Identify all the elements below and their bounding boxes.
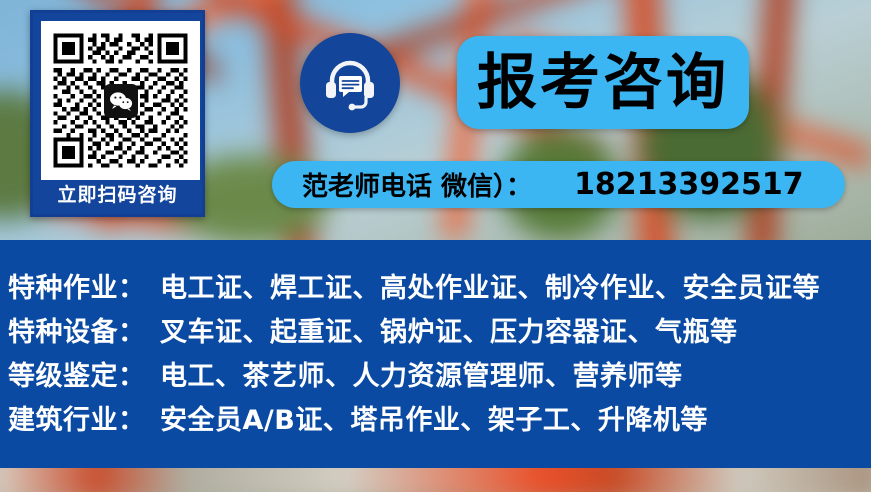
bottom-photo-blur	[0, 468, 871, 492]
category-value: 叉车证、起重证、锅炉证、压力容器证、气瓶等	[160, 310, 738, 349]
contact-phone-pill[interactable]: 范老师电话 微信）： 18213392517	[272, 161, 845, 208]
headset-support-icon	[300, 33, 400, 133]
promo-poster: 立即扫码咨询 报考咨询 范老师电话 微信）： 18213392517 特	[0, 0, 871, 492]
contact-label: 范老师电话 微信）：	[302, 166, 532, 203]
contact-phone-number[interactable]: 18213392517	[574, 167, 804, 202]
bottom-photo-strip	[0, 468, 871, 492]
category-label: 特种设备：	[8, 310, 160, 349]
consultation-title-pill: 报考咨询	[457, 36, 749, 129]
wechat-logo-icon	[104, 84, 138, 118]
category-row-special-operations: 特种作业： 电工证、焊工证、高处作业证、制冷作业、安全员证等	[8, 265, 863, 305]
qr-caption: 立即扫码咨询	[33, 180, 202, 210]
qr-code-card[interactable]: 立即扫码咨询	[30, 10, 205, 217]
category-value: 电工、茶艺师、人力资源管理师、营养师等	[160, 354, 683, 393]
category-label: 建筑行业：	[8, 398, 160, 437]
category-row-special-equipment: 特种设备： 叉车证、起重证、锅炉证、压力容器证、气瓶等	[8, 309, 863, 349]
qr-code-plate	[41, 21, 200, 180]
category-value: 电工证、焊工证、高处作业证、制冷作业、安全员证等	[160, 266, 820, 305]
category-label: 等级鉴定：	[8, 354, 160, 393]
category-label: 特种作业：	[8, 266, 160, 305]
category-value: 安全员A/B证、塔吊作业、架子工、升降机等	[160, 398, 708, 437]
category-row-grade-assessment: 等级鉴定： 电工、茶艺师、人力资源管理师、营养师等	[8, 353, 863, 393]
consultation-title-text: 报考咨询	[477, 51, 729, 115]
certificate-category-panel: 特种作业： 电工证、焊工证、高处作业证、制冷作业、安全员证等 特种设备： 叉车证…	[0, 240, 871, 468]
category-row-construction-industry: 建筑行业： 安全员A/B证、塔吊作业、架子工、升降机等	[8, 397, 863, 437]
